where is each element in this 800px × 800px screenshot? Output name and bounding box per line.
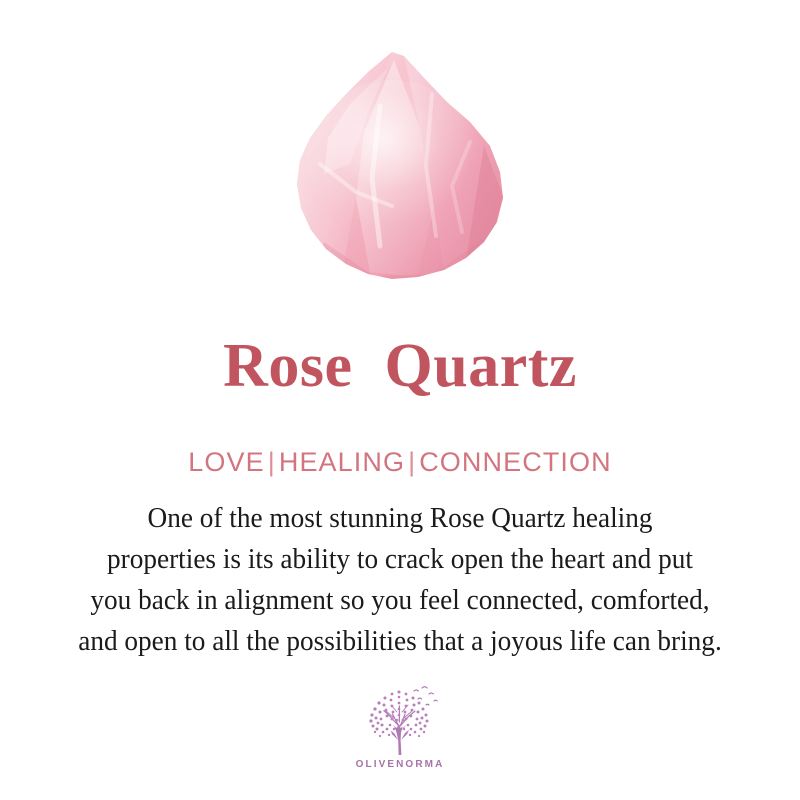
description-line: One of the most stunning Rose Quartz hea… — [24, 498, 776, 539]
page-title: Rose Quartz — [0, 330, 800, 402]
keyword-love: LOVE — [188, 447, 264, 477]
description-line: and open to all the possibilities that a… — [24, 621, 776, 662]
brand-name-text: OLIVENORMA — [356, 759, 445, 770]
crystal-image-container — [0, 46, 800, 292]
keyword-subtitle: LOVE|HEALING|CONNECTION — [0, 445, 800, 479]
rose-quartz-promo-card: Rose Quartz LOVE|HEALING|CONNECTION One … — [0, 0, 800, 800]
keyword-healing: HEALING — [279, 447, 405, 477]
rose-quartz-crystal-image — [284, 46, 516, 286]
keyword-connection: CONNECTION — [419, 447, 612, 477]
description-paragraph: One of the most stunning Rose Quartz hea… — [0, 498, 800, 662]
tree-with-birds-icon — [356, 684, 444, 756]
crystal-inner-glow — [306, 80, 478, 236]
description-line: you back in alignment so you feel connec… — [24, 580, 776, 621]
birds-icon — [414, 687, 437, 705]
keyword-separator-2: | — [405, 447, 419, 477]
keyword-separator-1: | — [265, 447, 279, 477]
description-line: properties is its ability to crack open … — [24, 539, 776, 580]
brand-logo-block: OLIVENORMA — [0, 684, 800, 770]
